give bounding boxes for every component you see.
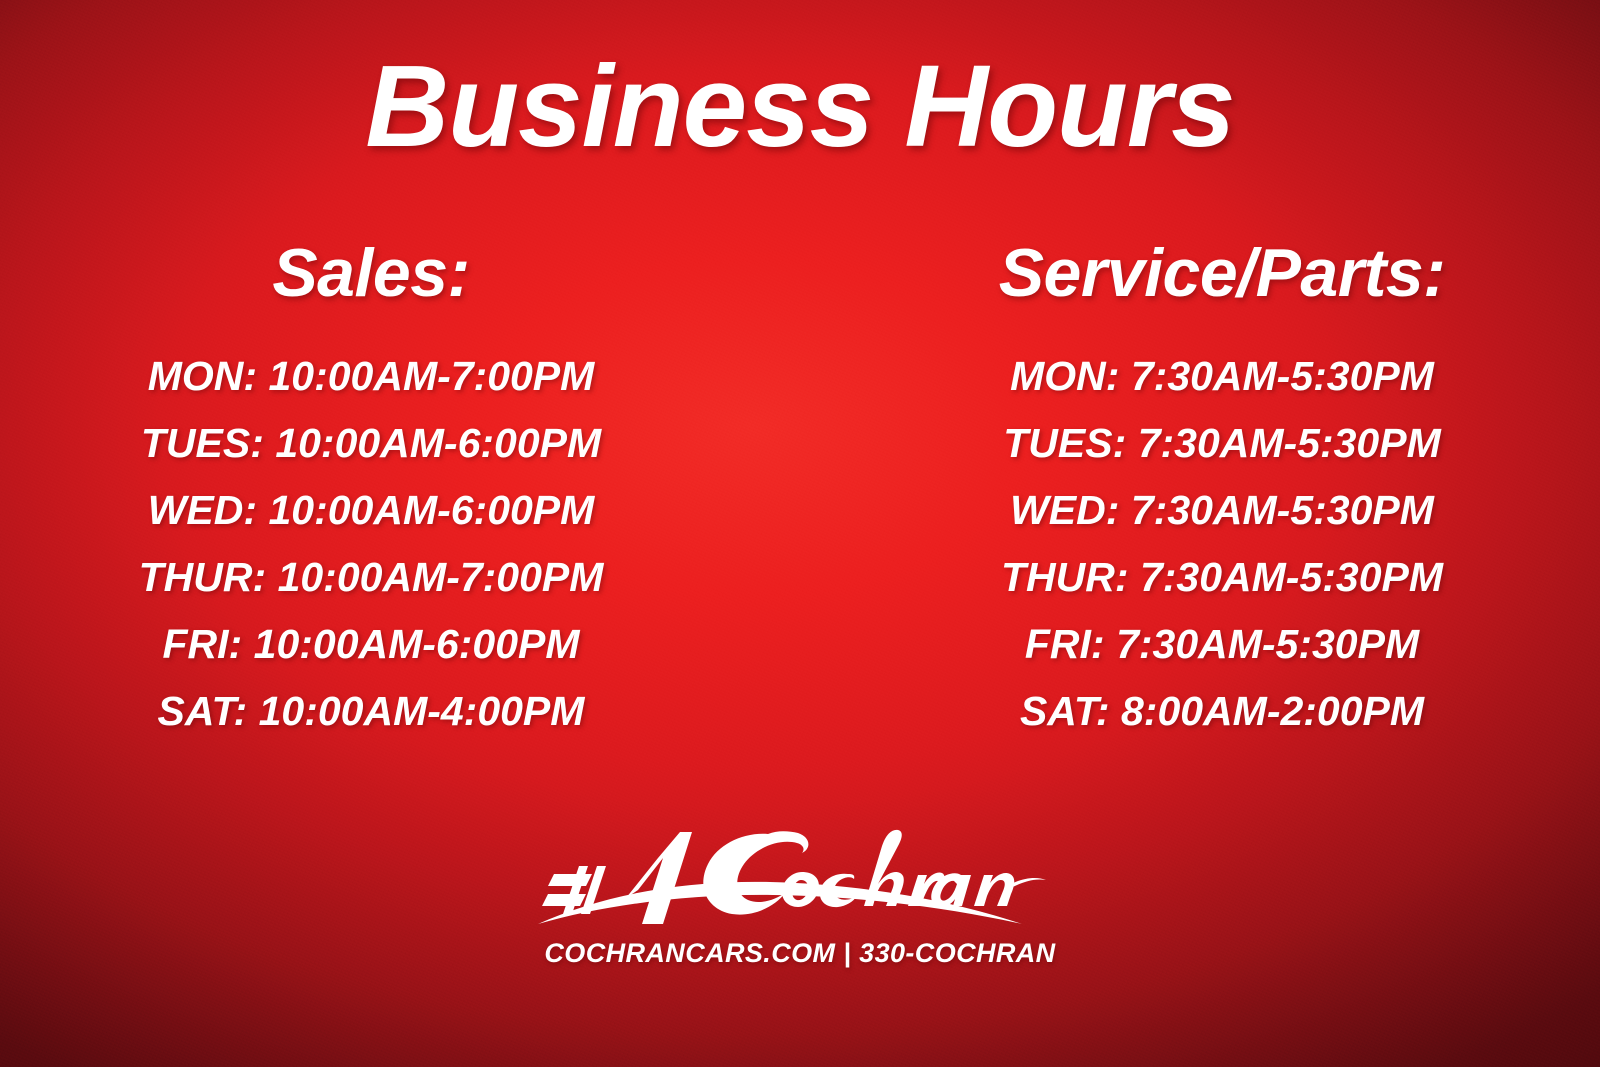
hours-value: 7:30AM-5:30PM — [1131, 356, 1434, 397]
numeral-one-glyph — [626, 832, 692, 924]
hours-value: 7:30AM-5:30PM — [1140, 557, 1443, 598]
day-label: WED: — [1010, 490, 1119, 531]
hours-value: 7:30AM-5:30PM — [1131, 490, 1434, 531]
column-heading-sales: Sales: — [0, 238, 742, 309]
hours-value: 10:00AM-7:00PM — [268, 356, 594, 397]
day-label: TUES: — [1003, 423, 1126, 464]
day-label: SAT: — [1020, 691, 1110, 732]
hours-column-service-parts: Service/Parts: MON: 7:30AM-5:30PM TUES: … — [800, 238, 1600, 745]
script-n-swash — [1009, 878, 1046, 889]
hours-row: FRI: 7:30AM-5:30PM — [844, 611, 1600, 678]
business-hours-poster: Business Hours Sales: MON: 10:00AM-7:00P… — [0, 0, 1600, 1067]
hours-row: THUR: 10:00AM-7:00PM — [0, 544, 742, 611]
hours-value: 10:00AM-6:00PM — [275, 423, 601, 464]
hours-value: 7:30AM-5:30PM — [1138, 423, 1441, 464]
hours-value: 8:00AM-2:00PM — [1121, 691, 1424, 732]
day-label: THUR: — [1001, 557, 1129, 598]
hours-row: SAT: 10:00AM-4:00PM — [0, 678, 742, 745]
hours-value: 10:00AM-6:00PM — [254, 624, 580, 665]
hours-row: TUES: 10:00AM-6:00PM — [0, 410, 742, 477]
hours-list-sales: MON: 10:00AM-7:00PM TUES: 10:00AM-6:00PM… — [0, 343, 742, 745]
hours-value: 10:00AM-4:00PM — [259, 691, 585, 732]
day-label: SAT: — [158, 691, 248, 732]
brand-logo-block: COCHRANCARS.COM | 330-COCHRAN — [0, 812, 1600, 969]
hours-column-sales: Sales: MON: 10:00AM-7:00PM TUES: 10:00AM… — [0, 238, 800, 745]
hours-row: TUES: 7:30AM-5:30PM — [844, 410, 1600, 477]
hours-columns: Sales: MON: 10:00AM-7:00PM TUES: 10:00AM… — [0, 238, 1600, 745]
day-label: TUES: — [141, 423, 264, 464]
hours-list-service-parts: MON: 7:30AM-5:30PM TUES: 7:30AM-5:30PM W… — [844, 343, 1600, 745]
day-label: MON: — [148, 356, 257, 397]
hours-row: WED: 10:00AM-6:00PM — [0, 477, 742, 544]
day-label: MON: — [1010, 356, 1119, 397]
hours-row: MON: 10:00AM-7:00PM — [0, 343, 742, 410]
hours-row: FRI: 10:00AM-6:00PM — [0, 611, 742, 678]
day-label: THUR: — [139, 557, 267, 598]
day-label: FRI: — [1025, 624, 1105, 665]
number-one-cochran-logo-icon — [530, 812, 1070, 930]
hours-row: THUR: 7:30AM-5:30PM — [844, 544, 1600, 611]
hours-row: WED: 7:30AM-5:30PM — [844, 477, 1600, 544]
day-label: FRI: — [162, 624, 242, 665]
page-title: Business Hours — [0, 44, 1600, 169]
hours-row: SAT: 8:00AM-2:00PM — [844, 678, 1600, 745]
script-n-glyph — [974, 873, 1014, 906]
hours-row: MON: 7:30AM-5:30PM — [844, 343, 1600, 410]
day-label: WED: — [148, 490, 257, 531]
hours-value: 10:00AM-6:00PM — [268, 490, 594, 531]
logo-tagline: COCHRANCARS.COM | 330-COCHRAN — [544, 938, 1055, 969]
hours-value: 10:00AM-7:00PM — [278, 557, 604, 598]
column-heading-service-parts: Service/Parts: — [844, 238, 1600, 309]
hours-value: 7:30AM-5:30PM — [1116, 624, 1419, 665]
